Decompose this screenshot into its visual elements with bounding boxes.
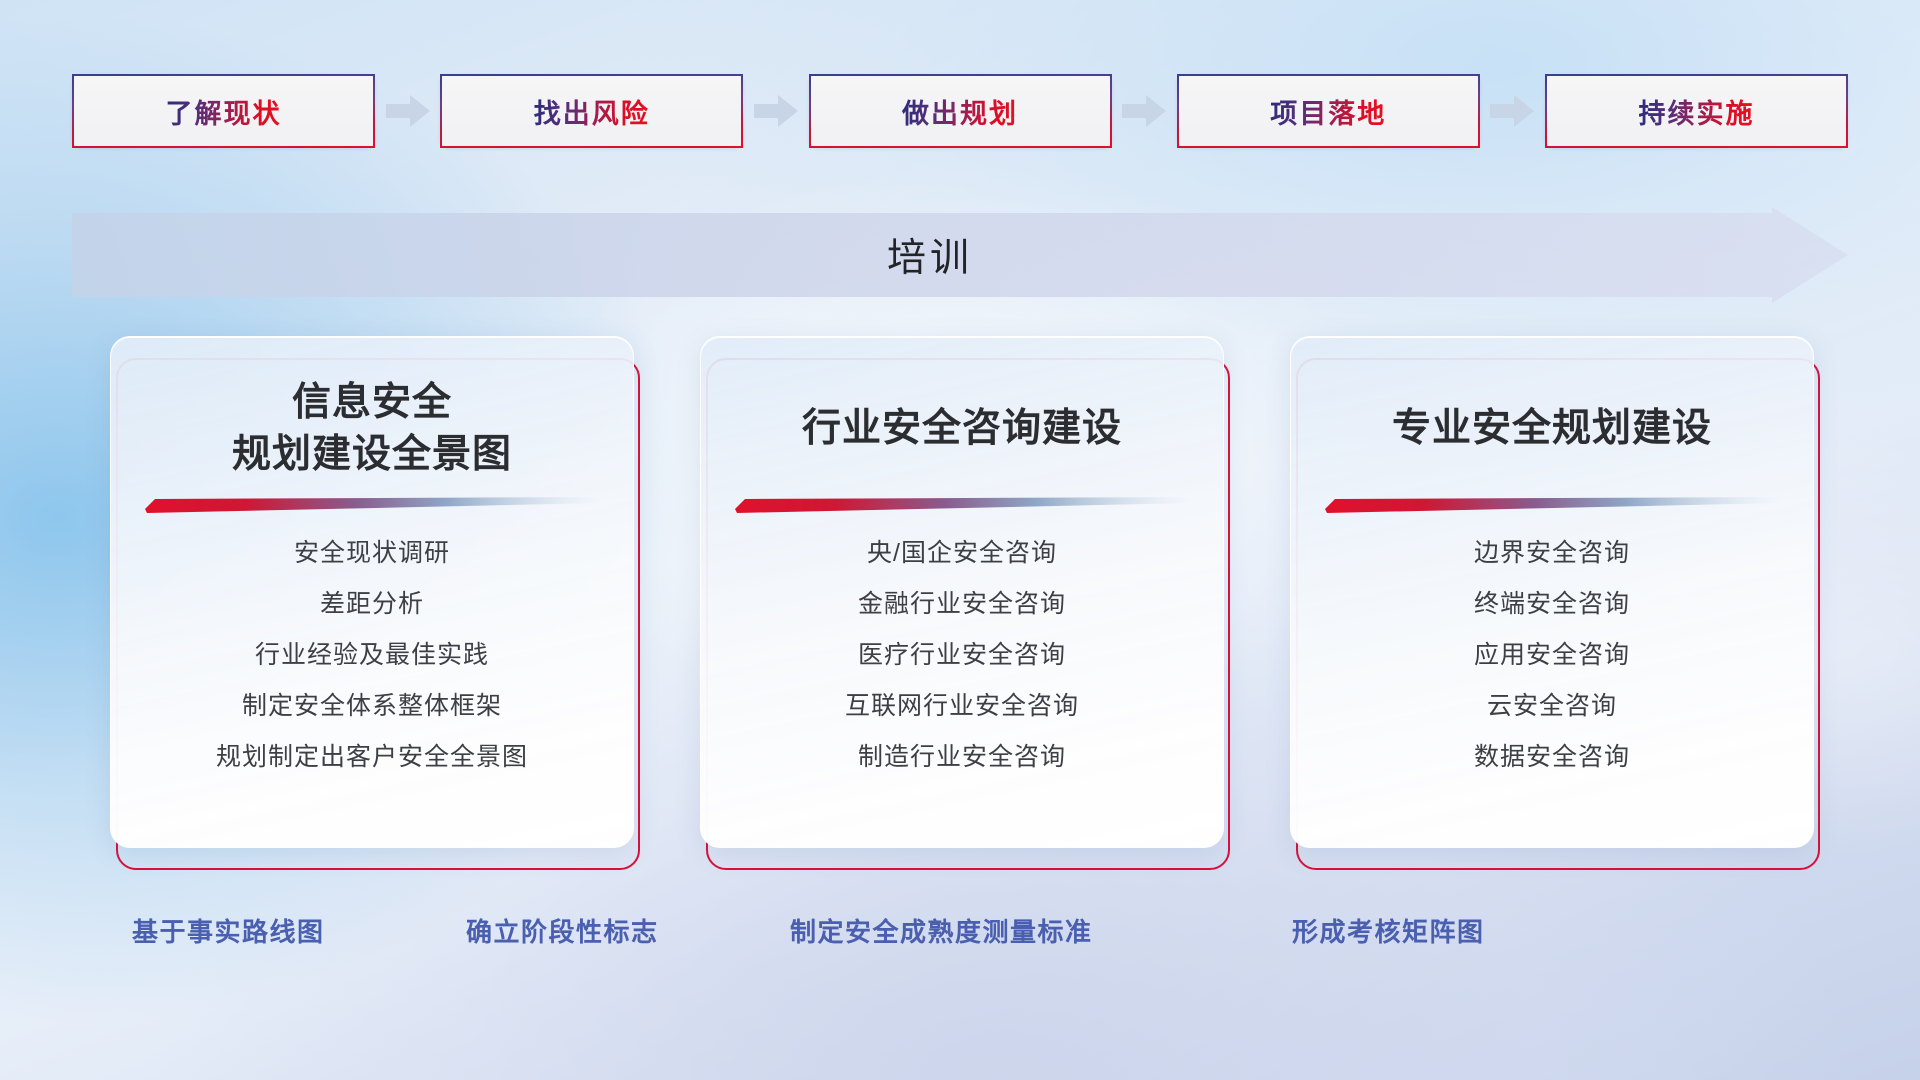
footer-caption: 基于事实路线图 [132, 912, 325, 949]
process-step-label: 持续实施 [1639, 92, 1755, 131]
footer-caption: 形成考核矩阵图 [1292, 912, 1485, 949]
list-item: 安全现状调研 [294, 541, 450, 566]
card-title: 信息安全 规划建设全景图 [232, 377, 512, 481]
card-title-line: 规划建设全景图 [232, 429, 512, 481]
list-item: 应用安全咨询 [1474, 643, 1630, 668]
footer-caption-row: 基于事实路线图 确立阶段性标志 制定安全成熟度测量标准 形成考核矩阵图 [0, 912, 1920, 962]
list-item: 制造行业安全咨询 [858, 745, 1066, 770]
training-banner-label: 培训 [72, 207, 1788, 303]
footer-caption: 制定安全成熟度测量标准 [790, 912, 1093, 949]
chevron-right-block-icon [386, 94, 430, 128]
list-item: 互联网行业安全咨询 [845, 694, 1079, 719]
chevron-right-block-icon [754, 94, 798, 128]
process-step-label: 了解现状 [166, 92, 282, 131]
card-body: 专业安全规划建设 [1290, 336, 1814, 848]
service-card-2[interactable]: 行业安全咨询建设 [700, 336, 1230, 870]
card-body: 行业安全咨询建设 [700, 336, 1224, 848]
service-card-row: 信息安全 规划建设全景图 [110, 336, 1820, 870]
process-step-label: 找出风险 [534, 92, 650, 131]
process-step-label: 项目落地 [1270, 92, 1386, 131]
chevron-right-block-icon [1122, 94, 1166, 128]
list-item: 终端安全咨询 [1474, 592, 1630, 617]
list-item: 央/国企安全咨询 [867, 541, 1057, 566]
list-item: 制定安全体系整体框架 [242, 694, 502, 719]
process-step-4[interactable]: 项目落地 [1177, 74, 1480, 148]
card-title-line: 专业安全规划建设 [1392, 403, 1712, 455]
service-card-3[interactable]: 专业安全规划建设 [1290, 336, 1820, 870]
card-title-line: 信息安全 [232, 377, 512, 429]
card-item-list: 安全现状调研 差距分析 行业经验及最佳实践 制定安全体系整体框架 规划制定出客户… [111, 541, 633, 770]
process-step-label: 做出规划 [902, 92, 1018, 131]
service-card-1[interactable]: 信息安全 规划建设全景图 [110, 336, 640, 870]
footer-caption: 确立阶段性标志 [466, 912, 659, 949]
list-item: 数据安全咨询 [1474, 745, 1630, 770]
training-banner: 培训 [72, 207, 1848, 303]
chevron-right-block-icon [1490, 94, 1534, 128]
list-item: 云安全咨询 [1487, 694, 1617, 719]
process-step-1[interactable]: 了解现状 [72, 74, 375, 148]
gradient-underline-icon [1323, 493, 1781, 515]
list-item: 差距分析 [320, 592, 424, 617]
card-item-list: 边界安全咨询 终端安全咨询 应用安全咨询 云安全咨询 数据安全咨询 [1291, 541, 1813, 770]
process-step-row: 了解现状 找出风险 做出规划 项目落地 持续实施 [72, 74, 1848, 148]
card-title-line: 行业安全咨询建设 [802, 403, 1122, 455]
list-item: 边界安全咨询 [1474, 541, 1630, 566]
card-title: 行业安全咨询建设 [802, 377, 1122, 481]
list-item: 医疗行业安全咨询 [858, 643, 1066, 668]
list-item: 规划制定出客户安全全景图 [216, 745, 528, 770]
list-item: 金融行业安全咨询 [858, 592, 1066, 617]
process-step-2[interactable]: 找出风险 [440, 74, 743, 148]
card-item-list: 央/国企安全咨询 金融行业安全咨询 医疗行业安全咨询 互联网行业安全咨询 制造行… [701, 541, 1223, 770]
list-item: 行业经验及最佳实践 [255, 643, 489, 668]
card-title: 专业安全规划建设 [1392, 377, 1712, 481]
process-step-3[interactable]: 做出规划 [809, 74, 1112, 148]
gradient-underline-icon [143, 493, 601, 515]
process-step-5[interactable]: 持续实施 [1545, 74, 1848, 148]
gradient-underline-icon [733, 493, 1191, 515]
card-body: 信息安全 规划建设全景图 [110, 336, 634, 848]
